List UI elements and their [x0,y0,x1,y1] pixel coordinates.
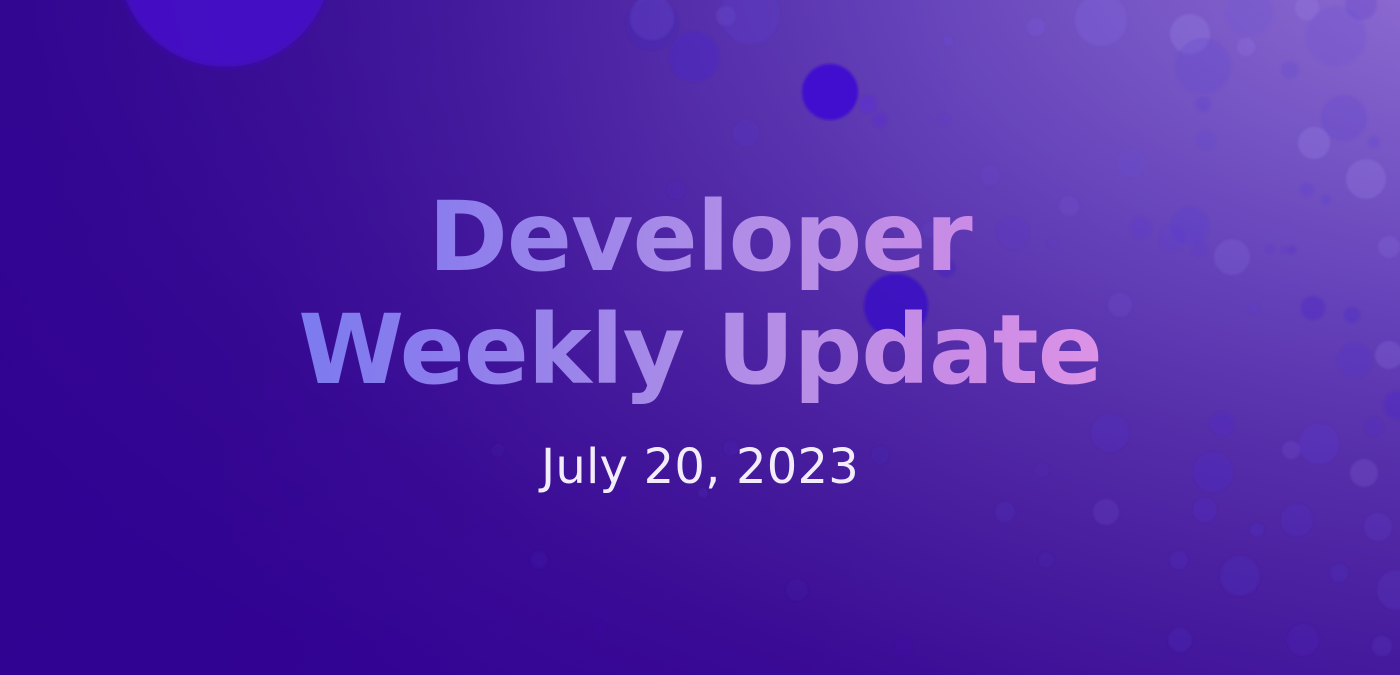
page-title: Developer Weekly Update [298,181,1102,408]
slide-canvas: Developer Weekly Update July 20, 2023 [0,0,1400,675]
slide-date: July 20, 2023 [541,441,859,494]
title-line-2: Weekly Update [298,294,1102,407]
slide-content: Developer Weekly Update July 20, 2023 [0,0,1400,675]
title-line-1: Developer [298,181,1102,294]
